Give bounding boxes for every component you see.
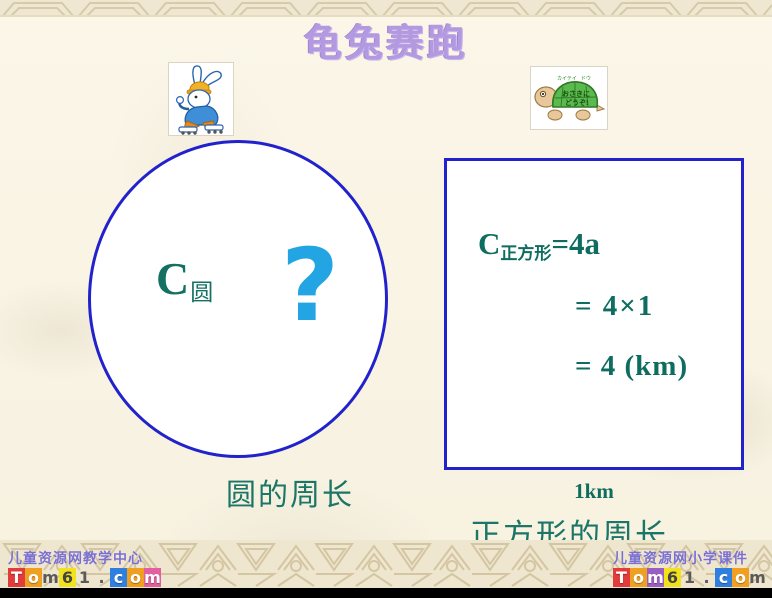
- circle-caption: 圆的周长: [170, 470, 410, 514]
- rabbit-image: [168, 62, 234, 136]
- wm-char: .: [698, 568, 715, 587]
- page-title: 龟兔赛跑: [0, 12, 772, 67]
- watermark-right-domain: T o m 6 1 . c o m: [613, 568, 766, 587]
- turtle-image: カイテイドウ おさきに どうぞ!: [530, 66, 608, 130]
- wm-char: 6: [59, 568, 76, 587]
- svg-text:カイテイ: カイテイ: [557, 76, 577, 82]
- slide-canvas: 龟兔赛跑: [0, 0, 772, 598]
- svg-text:どうぞ!: どうぞ!: [565, 98, 588, 107]
- watermark-left: 儿童资源网教学中心 T o m 6 1 . c o m: [8, 552, 161, 587]
- square-formula-rest: =4a: [551, 226, 600, 261]
- wm-char: o: [127, 568, 144, 587]
- wm-char: m: [647, 568, 664, 587]
- watermark-left-domain: T o m 6 1 . c o m: [8, 568, 161, 587]
- wm-char: m: [749, 568, 766, 587]
- square-equation-line-3: = 4 (km): [575, 350, 688, 383]
- wm-char: 6: [664, 568, 681, 587]
- square-equation-line-2: = 4×1: [575, 290, 654, 323]
- square-equation-line-1: C正方形=4a: [478, 226, 600, 262]
- question-mark-icon: ?: [281, 236, 339, 336]
- wm-char: T: [613, 568, 630, 587]
- watermark-right: 儿童资源网小学课件 T o m 6 1 . c o m: [613, 552, 766, 587]
- wm-char: .: [93, 568, 110, 587]
- wm-char: 1: [76, 568, 93, 587]
- square-side-length-label: 1km: [494, 479, 694, 504]
- wm-char: c: [715, 568, 732, 587]
- square-formula-subscript: 正方形: [500, 244, 551, 264]
- svg-text:ドウ: ドウ: [581, 75, 591, 82]
- wm-char: o: [25, 568, 42, 587]
- circle-formula-subscript: 圆: [190, 280, 213, 306]
- circle-formula-main: C: [156, 253, 189, 304]
- wm-char: o: [630, 568, 647, 587]
- circle-shape: [88, 140, 388, 458]
- wm-char: c: [110, 568, 127, 587]
- wm-char: m: [144, 568, 161, 587]
- svg-text:おさきに: おさきに: [562, 89, 590, 98]
- bottom-black-strip: [0, 588, 772, 598]
- wm-char: o: [732, 568, 749, 587]
- wm-char: T: [8, 568, 25, 587]
- wm-char: 1: [681, 568, 698, 587]
- square-caption: 正方形的周长: [404, 510, 734, 555]
- watermark-left-chinese: 儿童资源网教学中心: [8, 552, 161, 566]
- wm-char: m: [42, 568, 59, 587]
- circle-formula-label: C圆: [156, 256, 212, 302]
- watermark-right-chinese: 儿童资源网小学课件: [613, 552, 766, 566]
- square-formula-main: C: [478, 226, 500, 261]
